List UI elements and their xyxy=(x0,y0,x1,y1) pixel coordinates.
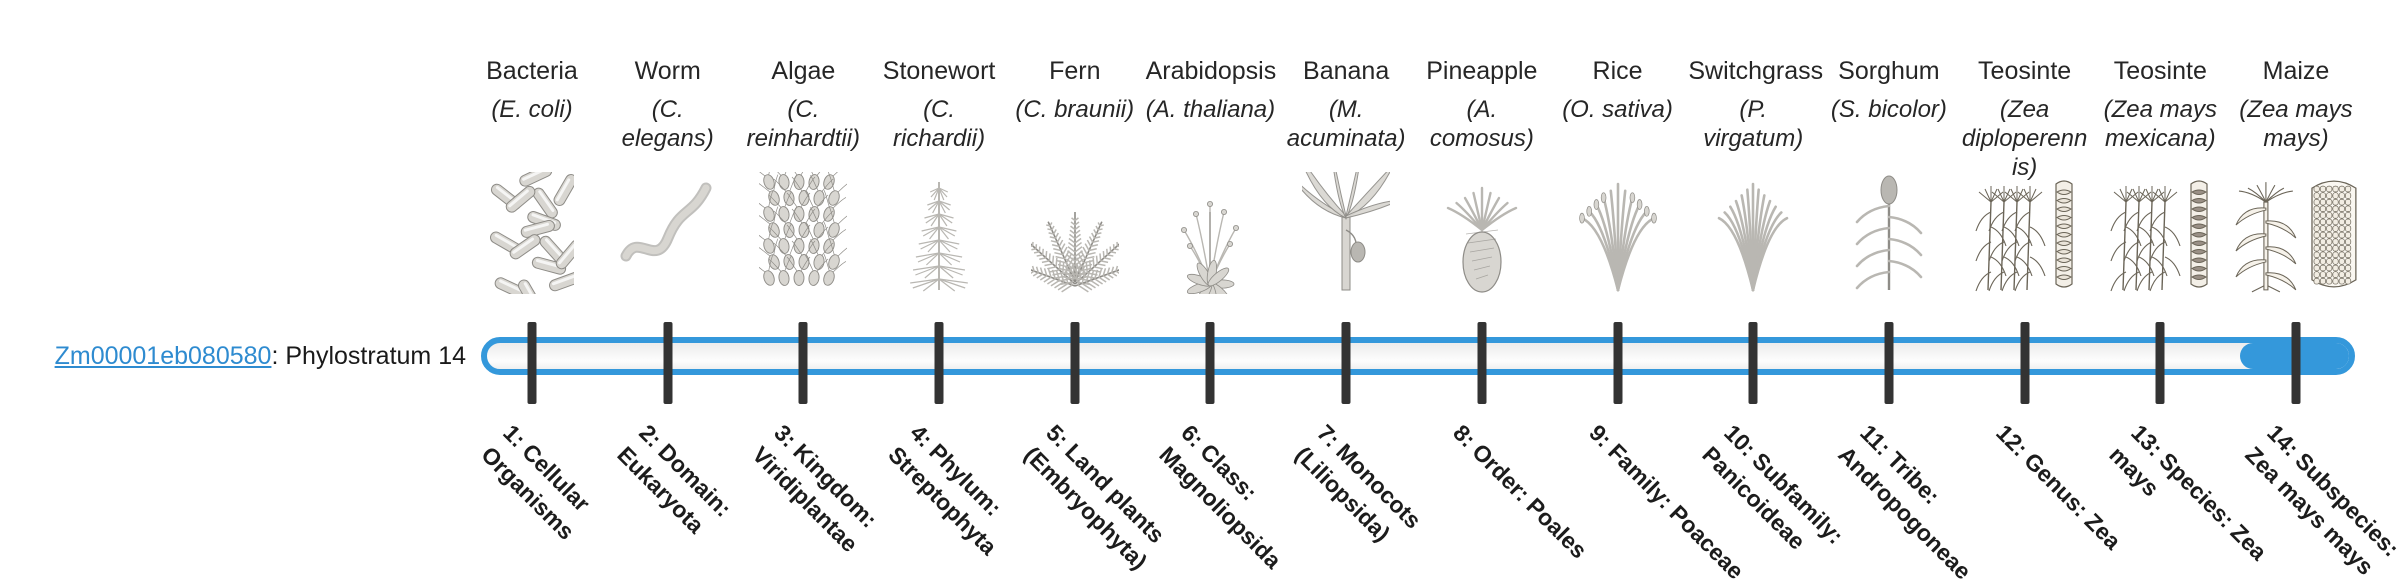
species-scientific-name: (O. sativa) xyxy=(1553,95,1683,124)
phylostratum-tick xyxy=(663,322,672,404)
species-column: Stonewort(C. richardii) xyxy=(874,56,1004,153)
rice-illustration xyxy=(1552,172,1684,294)
phylostratum-name: Domain: Eukaryota xyxy=(612,434,736,538)
gene-phylostratum-label: Zm00001eb080580: Phylostratum 14 xyxy=(36,340,466,372)
species-column: Teosinte(Zea mays mexicana) xyxy=(2095,56,2225,153)
species-scientific-name: (A. thaliana) xyxy=(1146,95,1276,124)
phylostratum-name: Order: Poales xyxy=(1463,434,1593,564)
species-scientific-name: (C. richardii) xyxy=(874,95,1004,153)
pineapple-illustration xyxy=(1416,172,1548,294)
maize-illustration xyxy=(2230,172,2362,294)
species-column: Teosinte(Zea diploperennis) xyxy=(1960,56,2090,182)
species-column: Rice(O. sativa) xyxy=(1553,56,1683,124)
phylostratum-tick xyxy=(799,322,808,404)
species-common-name: Fern xyxy=(1010,56,1140,86)
species-column: Maize(Zea mays mays) xyxy=(2231,56,2361,153)
species-column: Algae(C. reinhardtii) xyxy=(739,56,869,153)
teosinte-mexicana-illustration xyxy=(2094,172,2226,294)
species-column: Banana(M. acuminata) xyxy=(1281,56,1411,153)
phylostratum-tick xyxy=(1342,322,1351,404)
species-common-name: Banana xyxy=(1281,56,1411,86)
phylostratum-tick xyxy=(1749,322,1758,404)
species-scientific-name: (C. braunii) xyxy=(1010,95,1140,124)
species-column: Bacteria(E. coli) xyxy=(467,56,597,124)
species-scientific-name: (Zea mays mexicana) xyxy=(2095,95,2225,153)
species-scientific-name: (M. acuminata) xyxy=(1281,95,1411,153)
phylostratum-tick xyxy=(935,322,944,404)
species-common-name: Teosinte xyxy=(1960,56,2090,86)
phylostratum-tick xyxy=(2292,322,2301,404)
phylostratum-tick xyxy=(528,322,537,404)
phylostratum-tick xyxy=(1206,322,1215,404)
species-column: Switchgrass(P. virgatum) xyxy=(1688,56,1818,153)
phylostratum-tick xyxy=(2156,322,2165,404)
phylostratum-name: Cellular Organisms xyxy=(476,434,595,545)
phylostratum-tick xyxy=(1613,322,1622,404)
species-common-name: Algae xyxy=(739,56,869,86)
species-column: Pineapple(A. comosus) xyxy=(1417,56,1547,153)
gene-id-link[interactable]: Zm00001eb080580 xyxy=(55,342,272,370)
phylostratum-tick xyxy=(2020,322,2029,404)
species-common-name: Sorghum xyxy=(1824,56,1954,86)
species-common-name: Rice xyxy=(1553,56,1683,86)
species-common-name: Teosinte xyxy=(2095,56,2225,86)
sorghum-illustration xyxy=(1823,172,1955,294)
species-column: Sorghum(S. bicolor) xyxy=(1824,56,1954,124)
stonewort-illustration xyxy=(873,172,1005,294)
species-scientific-name: (P. virgatum) xyxy=(1688,95,1818,153)
species-scientific-name: (Zea diploperennis) xyxy=(1960,95,2090,182)
algae-illustration xyxy=(738,172,870,294)
species-common-name: Worm xyxy=(603,56,733,86)
species-common-name: Switchgrass xyxy=(1688,56,1818,86)
species-column: Worm(C. elegans) xyxy=(603,56,733,153)
bacteria-illustration xyxy=(466,172,598,294)
species-scientific-name: (A. comosus) xyxy=(1417,95,1547,153)
nematode-illustration xyxy=(602,172,734,294)
species-scientific-name: (S. bicolor) xyxy=(1824,95,1954,124)
gene-label-separator: : xyxy=(271,342,285,370)
phylostratum-tick xyxy=(1477,322,1486,404)
phylostratigraphy-diagram: Zm00001eb080580: Phylostratum 14 Bacteri… xyxy=(0,0,2400,580)
species-scientific-name: (C. reinhardtii) xyxy=(739,95,869,153)
species-scientific-name: (C. elegans) xyxy=(603,95,733,153)
species-column: Fern(C. braunii) xyxy=(1010,56,1140,124)
species-column: Arabidopsis(A. thaliana) xyxy=(1146,56,1276,124)
phylostratum-tick xyxy=(1884,322,1893,404)
arabidopsis-illustration xyxy=(1145,172,1277,294)
phylostratum-track[interactable] xyxy=(481,337,2355,375)
fern-illustration xyxy=(1009,172,1141,294)
phylostratum-name: Monocots (Liliopsida) xyxy=(1290,434,1426,547)
species-scientific-name: (E. coli) xyxy=(467,95,597,124)
teosinte-diploperennis-illustration xyxy=(1959,172,2091,294)
species-scientific-name: (Zea mays mays) xyxy=(2231,95,2361,153)
species-common-name: Stonewort xyxy=(874,56,1004,86)
species-common-name: Bacteria xyxy=(467,56,597,86)
phylostratum-value: Phylostratum 14 xyxy=(285,342,466,370)
switchgrass-illustration xyxy=(1687,172,1819,294)
species-common-name: Maize xyxy=(2231,56,2361,86)
phylostratum-tick xyxy=(1070,322,1079,404)
species-common-name: Pineapple xyxy=(1417,56,1547,86)
species-common-name: Arabidopsis xyxy=(1146,56,1276,86)
banana-illustration xyxy=(1280,172,1412,294)
